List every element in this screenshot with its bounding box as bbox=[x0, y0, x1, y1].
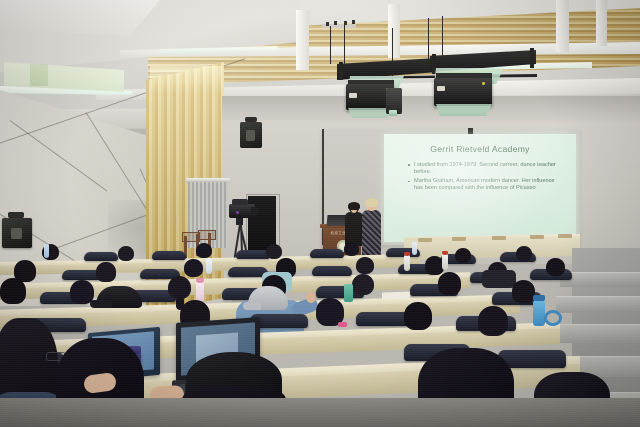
sports-bottle-cap bbox=[533, 295, 545, 301]
chair-back bbox=[312, 266, 352, 276]
wooden-chair-back bbox=[198, 230, 216, 240]
water-bottle-red-cap bbox=[442, 251, 448, 255]
projector-indicator-right bbox=[482, 82, 485, 85]
chair-back bbox=[152, 251, 186, 260]
bottle-cap-pink bbox=[196, 278, 204, 283]
student-head bbox=[516, 246, 532, 261]
presenter-left-hair bbox=[348, 202, 360, 210]
clerestory-window-mullion bbox=[30, 64, 48, 86]
baseball-cap-brim bbox=[243, 302, 261, 310]
student-head bbox=[118, 246, 134, 261]
student-hand bbox=[306, 292, 316, 303]
student-head bbox=[455, 248, 471, 263]
student-head bbox=[478, 306, 508, 336]
front-desk-chair bbox=[418, 238, 432, 242]
student-head bbox=[404, 302, 432, 330]
student-head bbox=[184, 259, 203, 277]
student-head bbox=[438, 272, 461, 295]
student-head bbox=[0, 278, 26, 304]
water-bottle bbox=[442, 254, 448, 270]
camera-lens-icon bbox=[251, 207, 259, 215]
aisle-step bbox=[552, 324, 640, 343]
water-bottle bbox=[404, 255, 410, 271]
water-bottle bbox=[196, 282, 204, 302]
front-desk-chair bbox=[452, 237, 466, 241]
water-bottle bbox=[412, 242, 417, 255]
chair-back bbox=[84, 252, 118, 261]
ceiling-socket bbox=[334, 21, 337, 25]
suspension-cable bbox=[330, 26, 331, 64]
data-projector-lens bbox=[389, 110, 397, 116]
projector-glass-right-lower bbox=[436, 104, 492, 116]
sports-bottle-handle bbox=[544, 310, 562, 326]
suspension-cable bbox=[428, 18, 429, 60]
water-bottle-green bbox=[344, 284, 353, 302]
suspension-cable bbox=[442, 16, 443, 60]
speaker-cone-left bbox=[11, 228, 22, 239]
front-wall-shadow bbox=[222, 96, 640, 124]
student-cap-upper-brim bbox=[90, 300, 112, 308]
ceiling-drop-column-3 bbox=[556, 0, 569, 52]
sports-bottle-blue bbox=[533, 300, 545, 326]
lecture-hall-photo: Gerrit Rietveld Academy I studied from 1… bbox=[0, 0, 640, 427]
aisle-step bbox=[556, 296, 640, 313]
ceiling-drop-column-4 bbox=[596, 0, 607, 46]
hair-clip bbox=[338, 322, 347, 327]
projection-screen-glare bbox=[384, 134, 576, 242]
suspension-cable bbox=[344, 24, 345, 64]
ceiling-socket bbox=[326, 22, 329, 26]
truss-upright bbox=[432, 54, 436, 74]
front-desk-chair bbox=[530, 235, 544, 239]
student-head bbox=[512, 280, 535, 303]
water-bottle-red-cap bbox=[404, 252, 410, 256]
projector-lens-right bbox=[437, 86, 445, 91]
truss-upright bbox=[339, 62, 343, 80]
student-head bbox=[546, 258, 565, 276]
tripod-head bbox=[236, 218, 243, 225]
truss-upright bbox=[530, 48, 534, 68]
aisle-step bbox=[560, 272, 640, 287]
ceiling-drop-column-2 bbox=[388, 4, 400, 58]
student-head bbox=[96, 262, 116, 282]
camera-viewfinder bbox=[232, 199, 248, 205]
presenter-left-body bbox=[345, 212, 363, 246]
student-jacket bbox=[482, 270, 516, 288]
water-bottle bbox=[206, 258, 212, 274]
presenter-right-body bbox=[362, 210, 381, 258]
notebook bbox=[382, 292, 410, 300]
student-head bbox=[356, 257, 374, 274]
floor-foreground bbox=[0, 398, 640, 427]
student-head bbox=[344, 242, 359, 256]
speaker-cone-right bbox=[246, 130, 255, 141]
ceiling-socket bbox=[352, 20, 355, 24]
presenter-right-hair bbox=[365, 198, 378, 207]
student-head bbox=[352, 274, 374, 295]
ceiling-drop-column-1 bbox=[296, 10, 309, 70]
front-desk-chair bbox=[558, 234, 572, 238]
student-head bbox=[196, 243, 212, 258]
chair-back bbox=[236, 250, 270, 259]
projector-lens-left bbox=[349, 93, 357, 98]
wood-slat-highlight bbox=[150, 66, 222, 94]
student-head bbox=[266, 244, 282, 259]
front-desk-chair bbox=[492, 236, 506, 240]
camera-record-led bbox=[236, 211, 239, 214]
chair-back bbox=[310, 249, 344, 258]
lectern-laptop bbox=[326, 215, 346, 226]
water-bottle bbox=[44, 244, 49, 258]
